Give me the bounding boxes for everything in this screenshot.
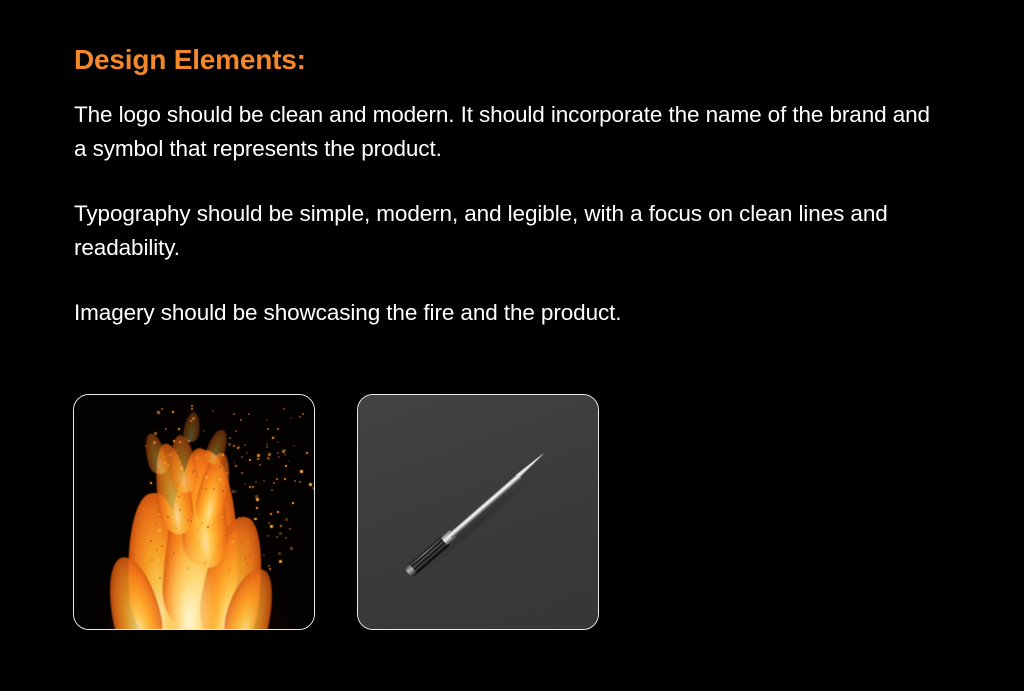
ember-spark: [218, 478, 221, 481]
ember-spark: [255, 481, 257, 483]
ember-spark: [258, 513, 260, 515]
ember-spark: [268, 453, 271, 456]
ember-spark: [183, 533, 185, 535]
ember-spark: [215, 473, 217, 475]
ember-spark: [188, 440, 190, 442]
ember-spark: [177, 484, 179, 486]
ember-spark: [285, 537, 287, 539]
ember-spark: [280, 525, 282, 527]
ember-spark: [283, 408, 285, 410]
slide-canvas: Design Elements: The logo should be clea…: [0, 0, 1024, 691]
ember-spark: [219, 501, 221, 503]
ember-spark: [191, 405, 193, 407]
ember-spark: [266, 446, 268, 448]
ember-spark: [266, 443, 268, 445]
ember-sparks: [74, 395, 314, 629]
ember-spark: [284, 454, 286, 456]
ember-spark: [158, 529, 161, 532]
ember-spark: [279, 532, 282, 535]
ember-spark: [178, 496, 180, 498]
ember-spark: [313, 487, 314, 490]
ember-spark: [279, 560, 282, 563]
ember-spark: [213, 488, 215, 490]
ember-spark: [161, 545, 163, 547]
ember-spark: [160, 465, 162, 467]
ember-spark: [258, 458, 260, 460]
fire-image: [74, 395, 314, 629]
ember-spark: [306, 452, 308, 454]
ember-spark: [257, 454, 260, 457]
paragraph-imagery: Imagery should be showcasing the fire an…: [74, 296, 942, 330]
ember-spark: [156, 549, 158, 551]
ember-spark: [271, 489, 273, 491]
ember-spark: [234, 561, 236, 563]
ember-spark: [277, 452, 279, 454]
ember-spark: [244, 483, 246, 485]
ember-spark: [213, 529, 215, 531]
ember-spark: [276, 536, 278, 538]
paragraph-typography: Typography should be simple, modern, and…: [74, 197, 914, 265]
ember-spark: [267, 535, 269, 537]
ember-spark: [285, 518, 288, 521]
ember-spark: [207, 526, 209, 528]
ember-spark: [309, 483, 312, 486]
ember-spark: [229, 437, 231, 439]
ember-spark: [177, 501, 179, 503]
ember-spark: [277, 441, 279, 443]
ember-spark: [293, 445, 295, 447]
ember-spark: [268, 565, 270, 567]
ember-spark: [165, 459, 167, 461]
ember-spark: [246, 563, 248, 565]
ember-spark: [232, 490, 235, 493]
ember-spark: [173, 508, 175, 510]
ember-spark: [263, 480, 265, 482]
ember-spark: [143, 508, 145, 510]
ember-spark: [249, 486, 251, 488]
ember-spark: [238, 517, 240, 519]
ember-spark: [180, 549, 183, 552]
ember-spark: [172, 411, 174, 413]
ember-spark: [244, 444, 246, 446]
ember-spark: [277, 511, 279, 513]
ember-spark: [276, 478, 278, 480]
ember-spark: [249, 459, 251, 461]
ember-spark: [282, 450, 285, 453]
ember-spark: [256, 498, 259, 501]
ember-spark: [250, 523, 252, 525]
ember-spark: [233, 461, 235, 463]
ember-spark: [227, 572, 229, 574]
ember-spark: [254, 518, 256, 520]
ember-spark: [192, 417, 195, 420]
ember-spark: [176, 449, 178, 451]
ember-spark: [187, 567, 189, 569]
fire-image-card: [73, 394, 315, 630]
ember-spark: [235, 430, 237, 432]
ember-spark: [181, 576, 183, 578]
ember-spark: [186, 542, 188, 544]
ember-spark: [267, 428, 269, 430]
ember-spark: [294, 480, 296, 482]
ember-spark: [278, 456, 280, 458]
ember-spark: [196, 457, 198, 459]
ember-spark: [278, 552, 281, 555]
ember-spark: [233, 413, 235, 415]
ember-spark: [273, 436, 275, 438]
ember-spark: [277, 428, 279, 430]
ember-spark: [257, 575, 259, 577]
ember-spark: [173, 552, 175, 554]
ember-spark: [205, 455, 207, 457]
ember-spark: [222, 490, 224, 492]
ember-spark: [145, 571, 147, 573]
ember-spark: [266, 419, 268, 421]
ember-spark: [299, 481, 301, 483]
ember-spark: [302, 413, 304, 415]
ember-spark: [229, 502, 231, 504]
ember-spark: [205, 488, 207, 490]
ember-spark: [159, 577, 161, 579]
ember-spark: [263, 554, 265, 556]
ember-spark: [240, 419, 242, 421]
ember-spark: [153, 550, 155, 552]
ember-spark: [165, 428, 167, 430]
ember-spark: [197, 528, 199, 530]
ember-spark: [255, 495, 258, 498]
ember-spark: [193, 529, 195, 531]
ember-spark: [161, 408, 163, 410]
ember-spark: [195, 492, 197, 494]
ember-spark: [145, 445, 147, 447]
ember-spark: [233, 528, 235, 530]
ember-spark: [290, 417, 292, 419]
ember-spark: [161, 457, 163, 459]
ember-spark: [228, 568, 230, 570]
ember-spark: [268, 522, 270, 524]
body-copy-block: The logo should be clean and modern. It …: [74, 98, 954, 330]
ember-spark: [179, 441, 181, 443]
ember-spark: [270, 525, 273, 528]
ember-spark: [169, 453, 172, 456]
ember-spark: [216, 544, 218, 546]
ember-spark: [157, 411, 160, 414]
ember-spark: [175, 527, 177, 529]
ember-spark: [151, 559, 153, 561]
ember-spark: [178, 494, 180, 496]
ember-spark: [268, 458, 270, 460]
ember-spark: [285, 465, 287, 467]
ember-spark: [221, 516, 223, 518]
ember-spark: [244, 557, 246, 559]
ember-spark: [167, 464, 169, 466]
ember-spark: [273, 482, 275, 484]
ember-spark: [191, 408, 193, 410]
ember-spark: [190, 420, 192, 422]
ember-spark: [292, 502, 294, 504]
ember-spark: [284, 478, 286, 480]
ember-spark: [259, 464, 261, 466]
ember-spark: [167, 561, 169, 563]
ember-spark: [231, 540, 234, 543]
ember-spark: [237, 447, 239, 449]
ember-spark: [155, 523, 157, 525]
ember-spark: [173, 440, 175, 442]
ember-spark: [154, 432, 157, 435]
ember-spark: [186, 505, 188, 507]
ember-spark: [288, 460, 290, 462]
ember-spark: [241, 456, 243, 458]
ember-spark: [247, 541, 249, 543]
ember-spark: [199, 524, 201, 526]
ember-spark: [248, 413, 250, 415]
ember-spark: [270, 513, 272, 515]
ember-spark: [201, 522, 203, 524]
ember-spark: [212, 410, 214, 412]
ember-spark: [300, 470, 303, 473]
ember-spark: [249, 554, 251, 556]
product-image-card: [357, 394, 599, 630]
ember-spark: [164, 462, 166, 464]
ember-spark: [290, 547, 293, 550]
ember-spark: [299, 416, 301, 418]
ember-spark: [197, 506, 199, 508]
ember-spark: [201, 488, 203, 490]
ember-spark: [222, 454, 224, 456]
ember-spark: [190, 520, 192, 522]
ember-spark: [228, 443, 231, 446]
ember-spark: [235, 465, 237, 467]
ember-spark: [226, 472, 228, 474]
ember-spark: [153, 441, 156, 444]
paragraph-logo: The logo should be clean and modern. It …: [74, 98, 942, 166]
ember-spark: [203, 430, 205, 432]
ember-spark: [180, 467, 183, 470]
ember-spark: [190, 513, 192, 515]
ember-spark: [235, 491, 237, 493]
product-image: [358, 395, 598, 629]
ember-spark: [233, 445, 235, 447]
ember-spark: [204, 562, 206, 564]
ember-spark: [167, 516, 169, 518]
ember-spark: [178, 428, 180, 430]
ember-spark: [230, 532, 232, 534]
ember-spark: [150, 540, 152, 542]
ember-spark: [256, 507, 258, 509]
ember-spark: [241, 472, 243, 474]
ember-spark: [203, 502, 206, 505]
ember-spark: [269, 568, 271, 570]
page-title: Design Elements:: [74, 44, 306, 76]
ember-spark: [219, 466, 221, 468]
ember-spark: [205, 476, 208, 479]
ember-spark: [150, 482, 152, 484]
ember-spark: [253, 550, 255, 552]
ember-spark: [252, 486, 254, 488]
ember-spark: [179, 509, 181, 511]
ember-spark: [246, 452, 248, 454]
ember-spark: [158, 513, 160, 515]
ember-spark: [161, 538, 163, 540]
ember-spark: [157, 511, 159, 513]
ember-spark: [186, 484, 188, 486]
ember-spark: [192, 538, 194, 540]
ember-spark: [289, 528, 291, 530]
